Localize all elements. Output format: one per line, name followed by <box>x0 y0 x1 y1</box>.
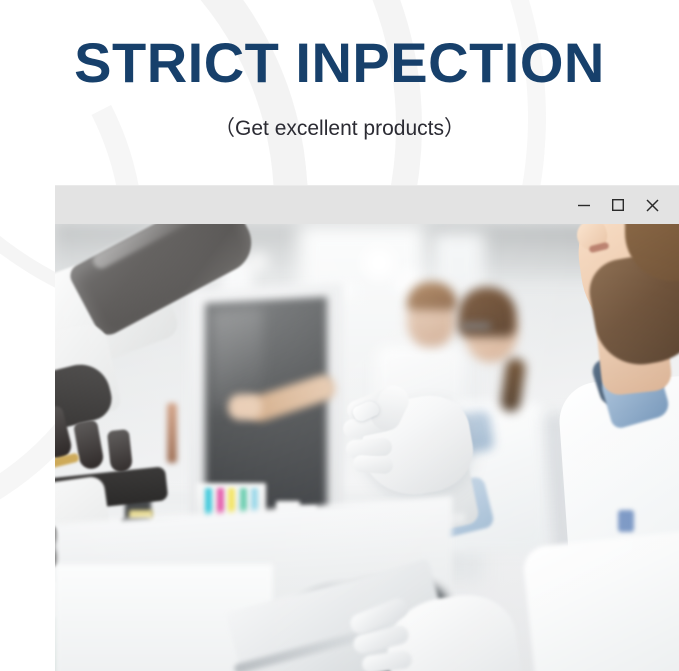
page-title: STRICT INPECTION <box>0 0 679 92</box>
minimize-button[interactable] <box>567 190 601 220</box>
scientist-coat-lower <box>521 530 679 671</box>
banner-page: STRICT INPECTION （Get excellent products… <box>0 0 679 671</box>
photo-stage <box>55 224 679 671</box>
minimize-icon <box>576 197 592 213</box>
glove-finger-4 <box>352 455 393 475</box>
colleague-b-glasses <box>461 322 491 330</box>
page-subtitle: （Get excellent products） <box>0 92 679 141</box>
bokeh-light-3 <box>247 251 269 273</box>
window-controls <box>567 190 669 220</box>
colleague-a-hand <box>228 394 262 420</box>
close-button[interactable] <box>635 190 669 220</box>
close-icon <box>644 197 661 214</box>
orange-rod <box>167 403 177 463</box>
maximize-icon <box>610 197 626 213</box>
lab-photo <box>55 224 679 671</box>
heading-block: STRICT INPECTION （Get excellent products… <box>0 0 679 141</box>
pocket-blue-tab <box>618 510 634 532</box>
maximize-button[interactable] <box>601 190 635 220</box>
app-window <box>55 185 679 671</box>
window-title-bar <box>55 185 679 224</box>
